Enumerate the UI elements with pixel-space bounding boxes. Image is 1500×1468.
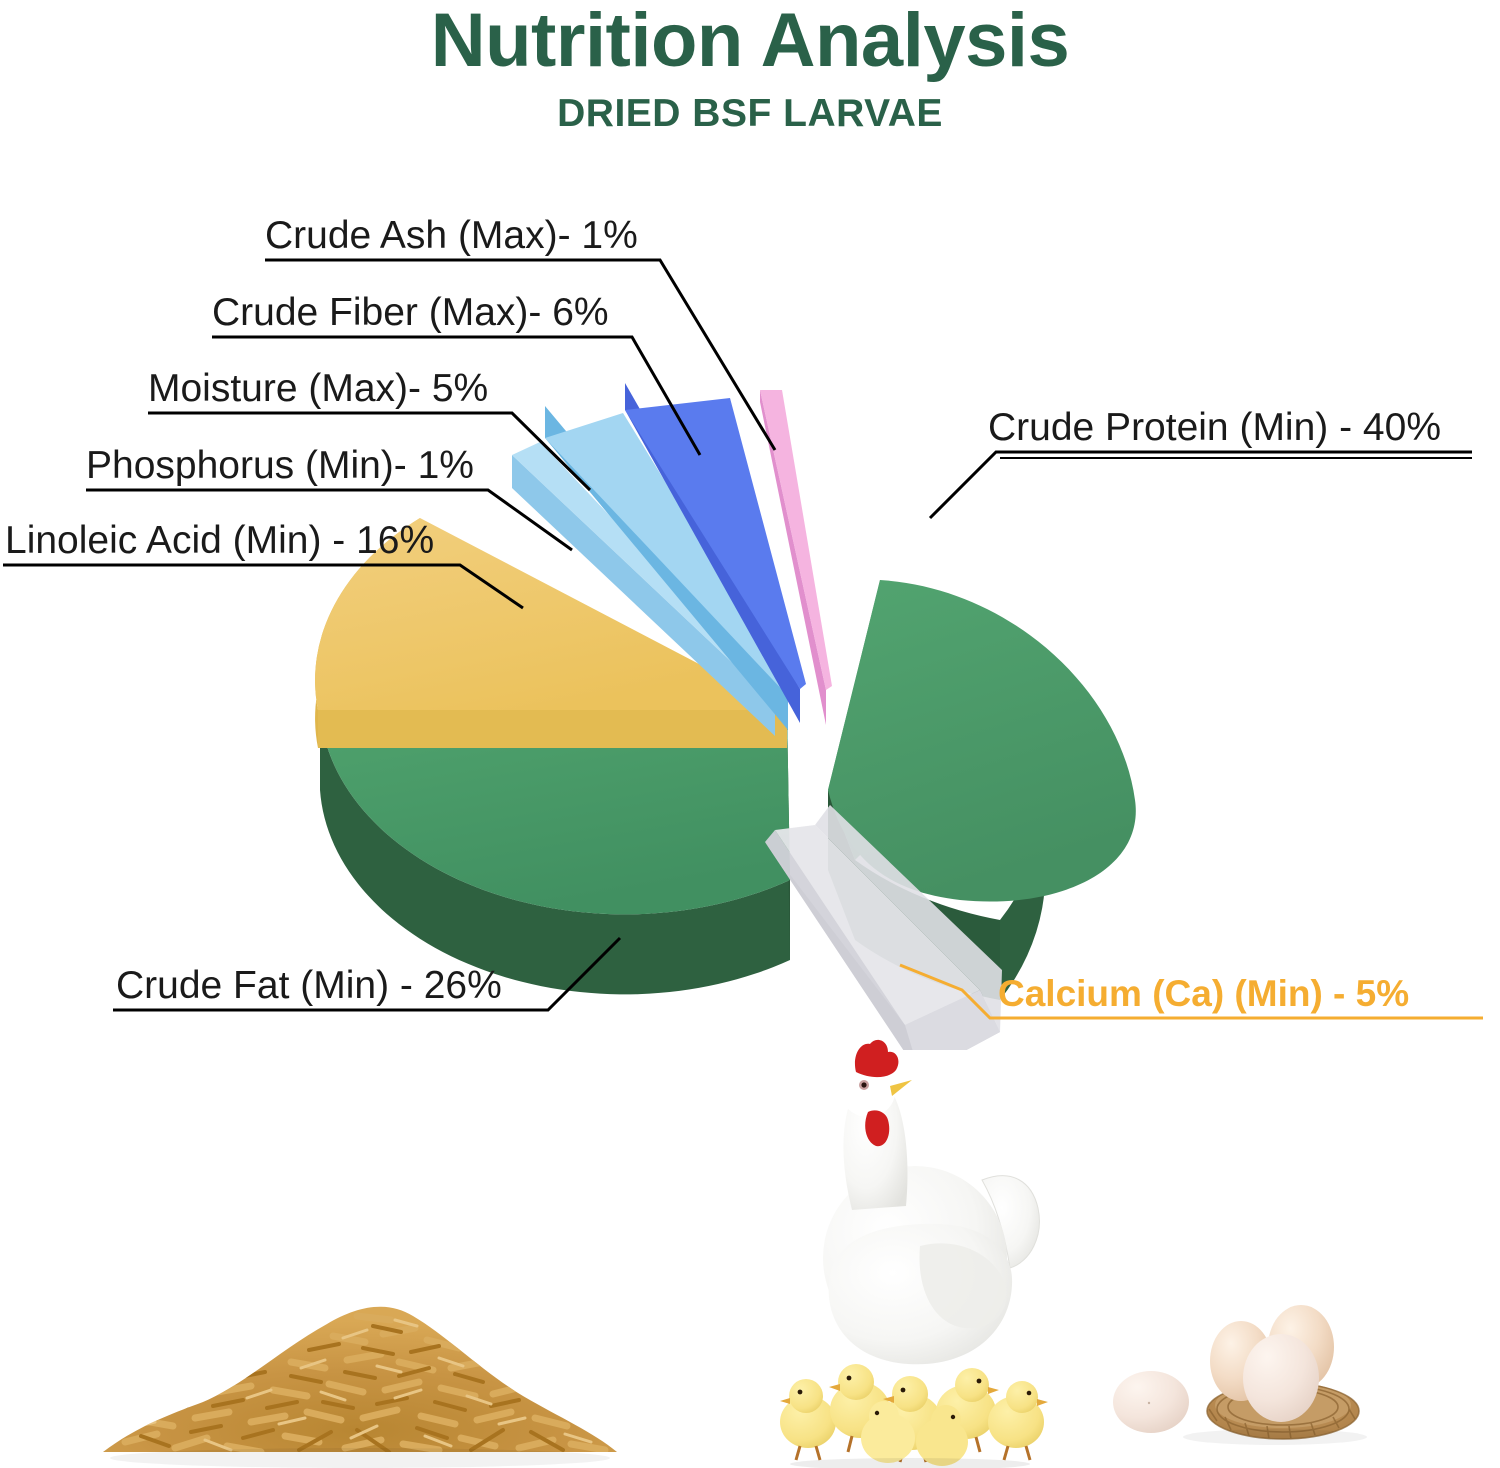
nutrition-pie-chart[interactable]: Crude Ash (Max)- 1% Crude Fiber (Max)- 6…	[0, 170, 1500, 1050]
egg-front	[1243, 1334, 1319, 1422]
page-subtitle: DRIED BSF LARVAE	[0, 92, 1500, 136]
label-linoleic-acid: Linoleic Acid (Min) - 16%	[5, 519, 434, 562]
label-crude-fat: Crude Fat (Min) - 26%	[116, 964, 502, 1007]
nutrition-analysis-infographic: Nutrition Analysis DRIED BSF LARVAE	[0, 0, 1500, 1468]
dried-bsf-larvae-pile-photo	[95, 1220, 625, 1468]
label-crude-ash: Crude Ash (Max)- 1%	[265, 214, 638, 257]
product-photo-strip	[0, 1020, 1500, 1468]
header: Nutrition Analysis DRIED BSF LARVAE	[0, 0, 1500, 136]
leader-line-crude-protein	[930, 452, 1472, 518]
label-phosphorus: Phosphorus (Min)- 1%	[86, 444, 474, 487]
pie-chart-area: Crude Ash (Max)- 1% Crude Fiber (Max)- 6…	[0, 170, 1500, 1050]
label-crude-fiber: Crude Fiber (Max)- 6%	[212, 291, 609, 334]
egg-loose	[1113, 1371, 1189, 1433]
page-title: Nutrition Analysis	[0, 2, 1500, 80]
eggs-in-basket-photo	[1105, 1285, 1405, 1468]
label-moisture: Moisture (Max)- 5%	[148, 367, 488, 410]
label-calcium: Calcium (Ca) (Min) - 5%	[998, 973, 1409, 1014]
label-crude-protein: Crude Protein (Min) - 40%	[988, 406, 1441, 449]
white-hen-with-chicks-photo	[760, 1030, 1060, 1468]
chicks-group	[780, 1364, 1048, 1466]
pie-slice-crude-fat[interactable]	[320, 710, 790, 994]
